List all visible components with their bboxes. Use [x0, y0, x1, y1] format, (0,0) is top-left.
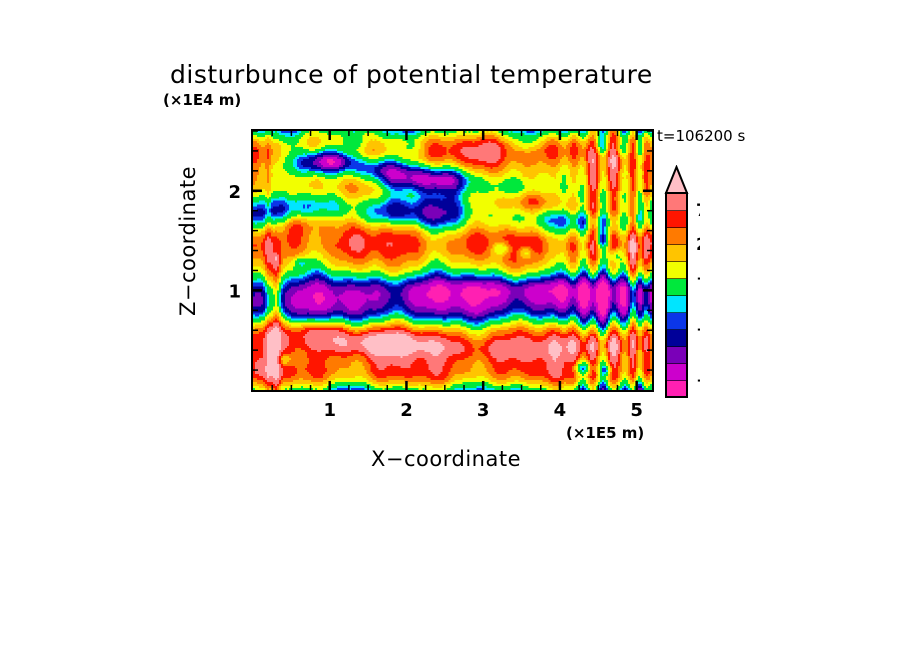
- colorbar-tick-label: 2: [696, 235, 700, 255]
- colorbar-tick-label: 7: [696, 201, 700, 221]
- axes-overlay: 1234512: [0, 0, 904, 654]
- x-axis-unit-label: (×1E5 m): [566, 424, 644, 442]
- figure-canvas: disturbunce of potential temperature (×1…: [0, 0, 904, 654]
- colorbar-tick-label: −1: [696, 269, 700, 289]
- y-axis-title: Z−coordinate: [176, 166, 200, 316]
- colorbar-tick-label: −5: [696, 320, 700, 340]
- x-axis-title: X−coordinate: [371, 447, 521, 471]
- colorbar: 72−1−5−12: [660, 165, 700, 400]
- colorbar-tick-label: −12: [696, 371, 700, 391]
